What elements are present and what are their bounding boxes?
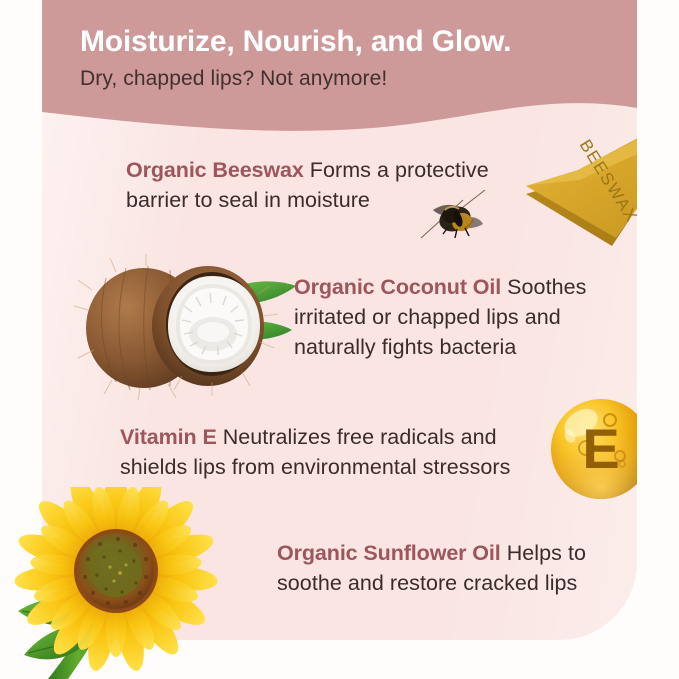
coconut-image: [72, 250, 312, 400]
vitamin-e-letter: E: [582, 417, 619, 480]
ingredient-sunflower-oil: Organic Sunflower Oil Helps to soothe an…: [277, 538, 627, 598]
ingredient-infographic: Moisturize, Nourish, and Glow. Dry, chap…: [0, 0, 679, 679]
ingredient-coconut-oil-name: Organic Coconut Oil: [294, 275, 501, 299]
ingredient-beeswax-name: Organic Beeswax: [126, 158, 304, 182]
vitamin-e-droplet-image: E: [548, 396, 637, 502]
bee-illustration: [419, 188, 489, 246]
beeswax-bar-illustration: BEESWAX: [520, 118, 637, 250]
ingredient-vitamin-e-name: Vitamin E: [120, 425, 217, 449]
ingredient-vitamin-e: Vitamin E Neutralizes free radicals and …: [120, 422, 560, 482]
vitamin-e-droplet-illustration: E: [548, 396, 637, 502]
coconut-illustration: [72, 250, 312, 400]
bee-image: [419, 188, 489, 246]
ingredient-coconut-oil-text: Organic Coconut Oil Soothes irritated or…: [294, 272, 624, 362]
ingredient-coconut-oil: Organic Coconut Oil Soothes irritated or…: [294, 272, 624, 362]
ingredient-sunflower-oil-name: Organic Sunflower Oil: [277, 541, 501, 565]
sunflower-illustration: [0, 487, 242, 679]
sunflower-image: [0, 487, 242, 679]
ingredient-sunflower-oil-text: Organic Sunflower Oil Helps to soothe an…: [277, 538, 627, 598]
page-title: Moisturize, Nourish, and Glow.: [42, 0, 637, 59]
beeswax-bar-image: BEESWAX: [520, 118, 637, 250]
page-subtitle: Dry, chapped lips? Not anymore!: [42, 59, 637, 91]
ingredient-vitamin-e-text: Vitamin E Neutralizes free radicals and …: [120, 422, 560, 482]
header-text-group: Moisturize, Nourish, and Glow. Dry, chap…: [42, 0, 637, 92]
